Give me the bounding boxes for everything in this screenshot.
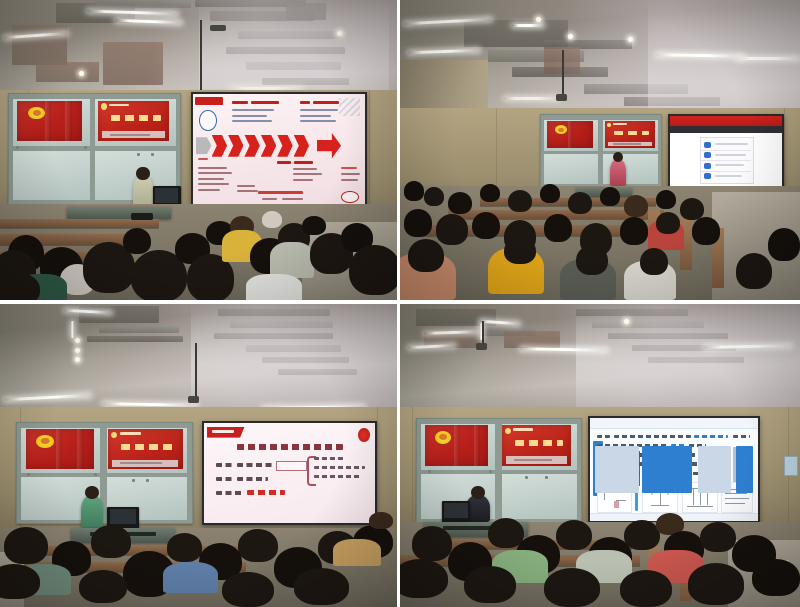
ceiling-projector [210, 25, 226, 31]
flag-emblem-icon [555, 125, 567, 134]
party-flag [26, 429, 94, 469]
banner-logo-icon [505, 428, 511, 435]
projector-pole [195, 343, 197, 401]
audience [0, 504, 397, 607]
presenter-head [136, 167, 149, 181]
party-flag [547, 121, 593, 148]
audience [400, 162, 800, 300]
event-banner [98, 101, 170, 141]
ceiling-projector [188, 396, 199, 403]
party-flag [17, 101, 82, 141]
audience [0, 180, 397, 300]
audience [400, 498, 800, 607]
event-banner [108, 429, 183, 469]
panel-top-left [0, 0, 397, 300]
projector-pole [562, 50, 564, 97]
ceiling-projector [556, 94, 567, 101]
banner-logo-icon [607, 123, 612, 127]
banner-logo-icon [111, 432, 118, 438]
banner-logo-icon [101, 103, 107, 109]
flag-emblem-icon [28, 107, 45, 120]
event-banner [605, 121, 655, 148]
flag-emblem-icon [36, 435, 54, 448]
flag-emblem-icon [435, 431, 451, 444]
slide-logo-icon [358, 428, 370, 442]
event-banner [502, 425, 571, 466]
photo-collage [0, 0, 800, 607]
panel-bottom-left [0, 304, 397, 607]
panel-top-right [400, 0, 800, 300]
ceiling-projector [476, 343, 487, 350]
panel-bottom-right [400, 304, 800, 607]
party-flag [425, 425, 487, 466]
